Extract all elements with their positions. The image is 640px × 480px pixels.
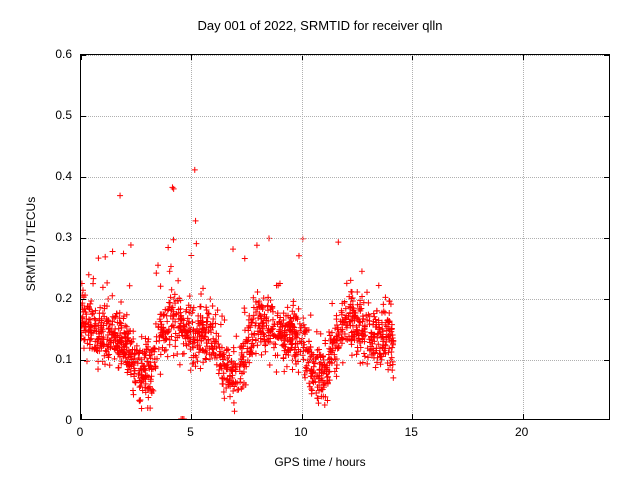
- x-tick: [302, 414, 303, 419]
- y-axis-title: SRMTID / TECUs: [24, 109, 38, 379]
- y-gridline: [81, 55, 609, 56]
- y-tick-right: [604, 55, 609, 56]
- y-tick-right: [604, 299, 609, 300]
- y-tick-right: [604, 360, 609, 361]
- y-gridline: [81, 177, 609, 178]
- y-tick-right: [604, 116, 609, 117]
- x-tick-label: 10: [294, 425, 307, 439]
- x-tick: [523, 414, 524, 419]
- plot-area: [80, 54, 610, 420]
- x-tick-label: 20: [515, 425, 528, 439]
- y-tick-label: 0.1: [12, 352, 72, 366]
- y-tick: [81, 238, 86, 239]
- x-gridline: [523, 55, 524, 419]
- x-tick-label: 5: [187, 425, 194, 439]
- y-tick: [81, 360, 86, 361]
- x-gridline: [191, 55, 192, 419]
- x-axis-title: GPS time / hours: [0, 455, 640, 469]
- x-gridline: [412, 55, 413, 419]
- y-gridline: [81, 299, 609, 300]
- y-tick-label: 0.6: [12, 47, 72, 61]
- x-tick: [81, 414, 82, 419]
- y-tick: [81, 116, 86, 117]
- x-tick: [412, 414, 413, 419]
- x-tick-label: 15: [405, 425, 418, 439]
- scatter-points: [81, 55, 609, 419]
- y-tick-right: [604, 177, 609, 178]
- y-tick-label: 0: [12, 413, 72, 427]
- y-gridline: [81, 116, 609, 117]
- x-gridline: [302, 55, 303, 419]
- x-tick-label: 0: [77, 425, 84, 439]
- chart-root: Day 001 of 2022, SRMTID for receiver qll…: [0, 0, 640, 480]
- y-tick-right: [604, 238, 609, 239]
- y-tick-label: 0.5: [12, 108, 72, 122]
- y-tick-label: 0.3: [12, 230, 72, 244]
- y-tick: [81, 177, 86, 178]
- y-gridline: [81, 360, 609, 361]
- x-tick: [191, 414, 192, 419]
- chart-title: Day 001 of 2022, SRMTID for receiver qll…: [0, 18, 640, 33]
- y-tick-label: 0.2: [12, 291, 72, 305]
- y-tick-label: 0.4: [12, 169, 72, 183]
- y-tick: [81, 299, 86, 300]
- y-gridline: [81, 238, 609, 239]
- y-tick: [81, 55, 86, 56]
